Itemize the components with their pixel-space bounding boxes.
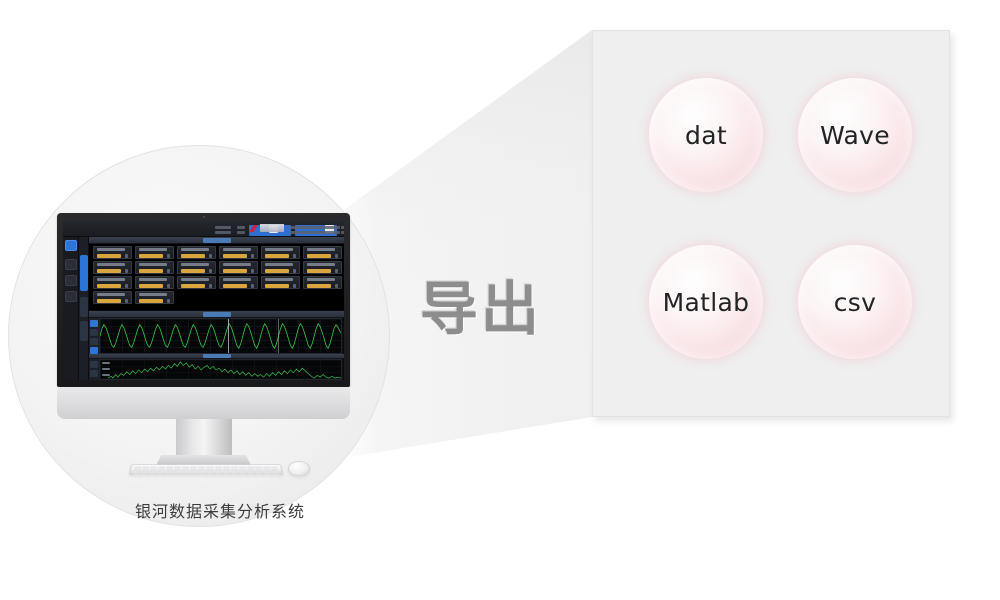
rail-tab-3[interactable] xyxy=(80,321,88,341)
keyboard xyxy=(129,464,283,475)
waveform-cursor-secondary[interactable] xyxy=(278,319,279,353)
app-rail[interactable] xyxy=(79,237,89,380)
monitor-stand-neck xyxy=(176,419,232,457)
waveform-panel-title xyxy=(203,312,231,317)
format-label-dat: dat xyxy=(685,121,727,150)
measurement-cell[interactable] xyxy=(135,276,174,289)
toolbar-label-5 xyxy=(341,226,344,229)
monitor-bezel xyxy=(57,213,350,387)
waveform-panel-header xyxy=(89,311,344,318)
format-bubble-matlab[interactable]: Matlab xyxy=(649,245,763,359)
measurement-cell[interactable] xyxy=(135,261,174,274)
measurement-cell[interactable] xyxy=(177,261,216,274)
waveform-cursor[interactable] xyxy=(228,319,229,353)
diagram-stage: 银河数据采集分析系统 导出 dat Wave Matlab csv xyxy=(0,0,1000,600)
measurement-cell[interactable] xyxy=(261,261,300,274)
sidebar-item-settings[interactable] xyxy=(65,291,77,302)
sidebar-item-archive[interactable] xyxy=(65,275,77,286)
export-formats-panel: dat Wave Matlab csv xyxy=(592,30,950,417)
app-toolbar[interactable] xyxy=(63,221,344,237)
toolbar-slider-track-1[interactable] xyxy=(249,233,291,236)
keyboard-keys xyxy=(133,467,278,473)
waveform-control-zoom[interactable] xyxy=(90,338,98,345)
waveform-control-cursor[interactable] xyxy=(90,347,98,354)
grid-panel-title xyxy=(203,238,231,243)
toolbar-label-4 xyxy=(237,231,245,234)
spectrum-control-2[interactable] xyxy=(90,370,98,377)
measurement-cell[interactable] xyxy=(93,276,132,289)
measurement-cell[interactable] xyxy=(219,261,258,274)
status-line-2 xyxy=(290,231,340,234)
monitor-chin xyxy=(57,387,350,419)
rail-tab-active[interactable] xyxy=(80,255,88,291)
waveform-control-play[interactable] xyxy=(90,320,98,327)
rail-tab-2[interactable] xyxy=(80,297,88,317)
sidebar-item-chart[interactable] xyxy=(65,259,77,270)
desktop-monitor xyxy=(57,213,350,431)
measurement-cell[interactable] xyxy=(135,291,174,304)
webcam-icon xyxy=(203,216,205,218)
format-bubble-csv[interactable]: csv xyxy=(798,245,912,359)
measurement-cell[interactable] xyxy=(303,276,342,289)
brand-logo-text xyxy=(260,224,284,232)
format-bubble-wave[interactable]: Wave xyxy=(798,78,912,192)
toolbar-label-3 xyxy=(237,226,245,229)
waveform-controls[interactable] xyxy=(89,318,99,354)
spectrum-control-1[interactable] xyxy=(90,361,98,368)
product-caption: 银河数据采集分析系统 xyxy=(110,498,330,522)
measurement-cell[interactable] xyxy=(219,246,258,259)
monitor-screen xyxy=(63,221,344,380)
measurement-cell[interactable] xyxy=(93,246,132,259)
measurement-cell[interactable] xyxy=(219,276,258,289)
acquisition-app xyxy=(63,221,344,380)
measurement-cell[interactable] xyxy=(261,246,300,259)
waveform-control-pause[interactable] xyxy=(90,329,98,336)
time-waveform-chart[interactable] xyxy=(99,318,342,354)
measurement-cell[interactable] xyxy=(177,246,216,259)
measurement-cell[interactable] xyxy=(135,246,174,259)
measurement-cell[interactable] xyxy=(261,276,300,289)
app-sidebar[interactable] xyxy=(63,237,79,380)
measurement-cell[interactable] xyxy=(303,246,342,259)
export-label: 导出 xyxy=(420,262,542,346)
sidebar-item-dashboard[interactable] xyxy=(65,240,77,251)
measurement-cell[interactable] xyxy=(93,291,132,304)
measurement-cell[interactable] xyxy=(177,276,216,289)
mouse xyxy=(288,461,310,476)
toolbar-label-2 xyxy=(215,231,231,234)
status-line-1 xyxy=(290,226,340,229)
format-label-matlab: Matlab xyxy=(663,288,750,317)
spectrum-controls[interactable] xyxy=(89,359,99,380)
measurement-grid xyxy=(89,244,344,310)
measurement-cell[interactable] xyxy=(93,261,132,274)
toolbar-label-1 xyxy=(215,226,231,229)
format-label-csv: csv xyxy=(834,288,876,317)
grid-panel-header xyxy=(89,237,344,244)
format-bubble-group: dat Wave Matlab csv xyxy=(593,31,949,416)
spectrum-waveform-chart[interactable] xyxy=(99,359,342,380)
toolbar-label-6 xyxy=(341,231,344,234)
measurement-cell[interactable] xyxy=(303,261,342,274)
format-bubble-dat[interactable]: dat xyxy=(649,78,763,192)
spectrum-panel-title xyxy=(203,354,231,358)
format-label-wave: Wave xyxy=(820,121,890,150)
